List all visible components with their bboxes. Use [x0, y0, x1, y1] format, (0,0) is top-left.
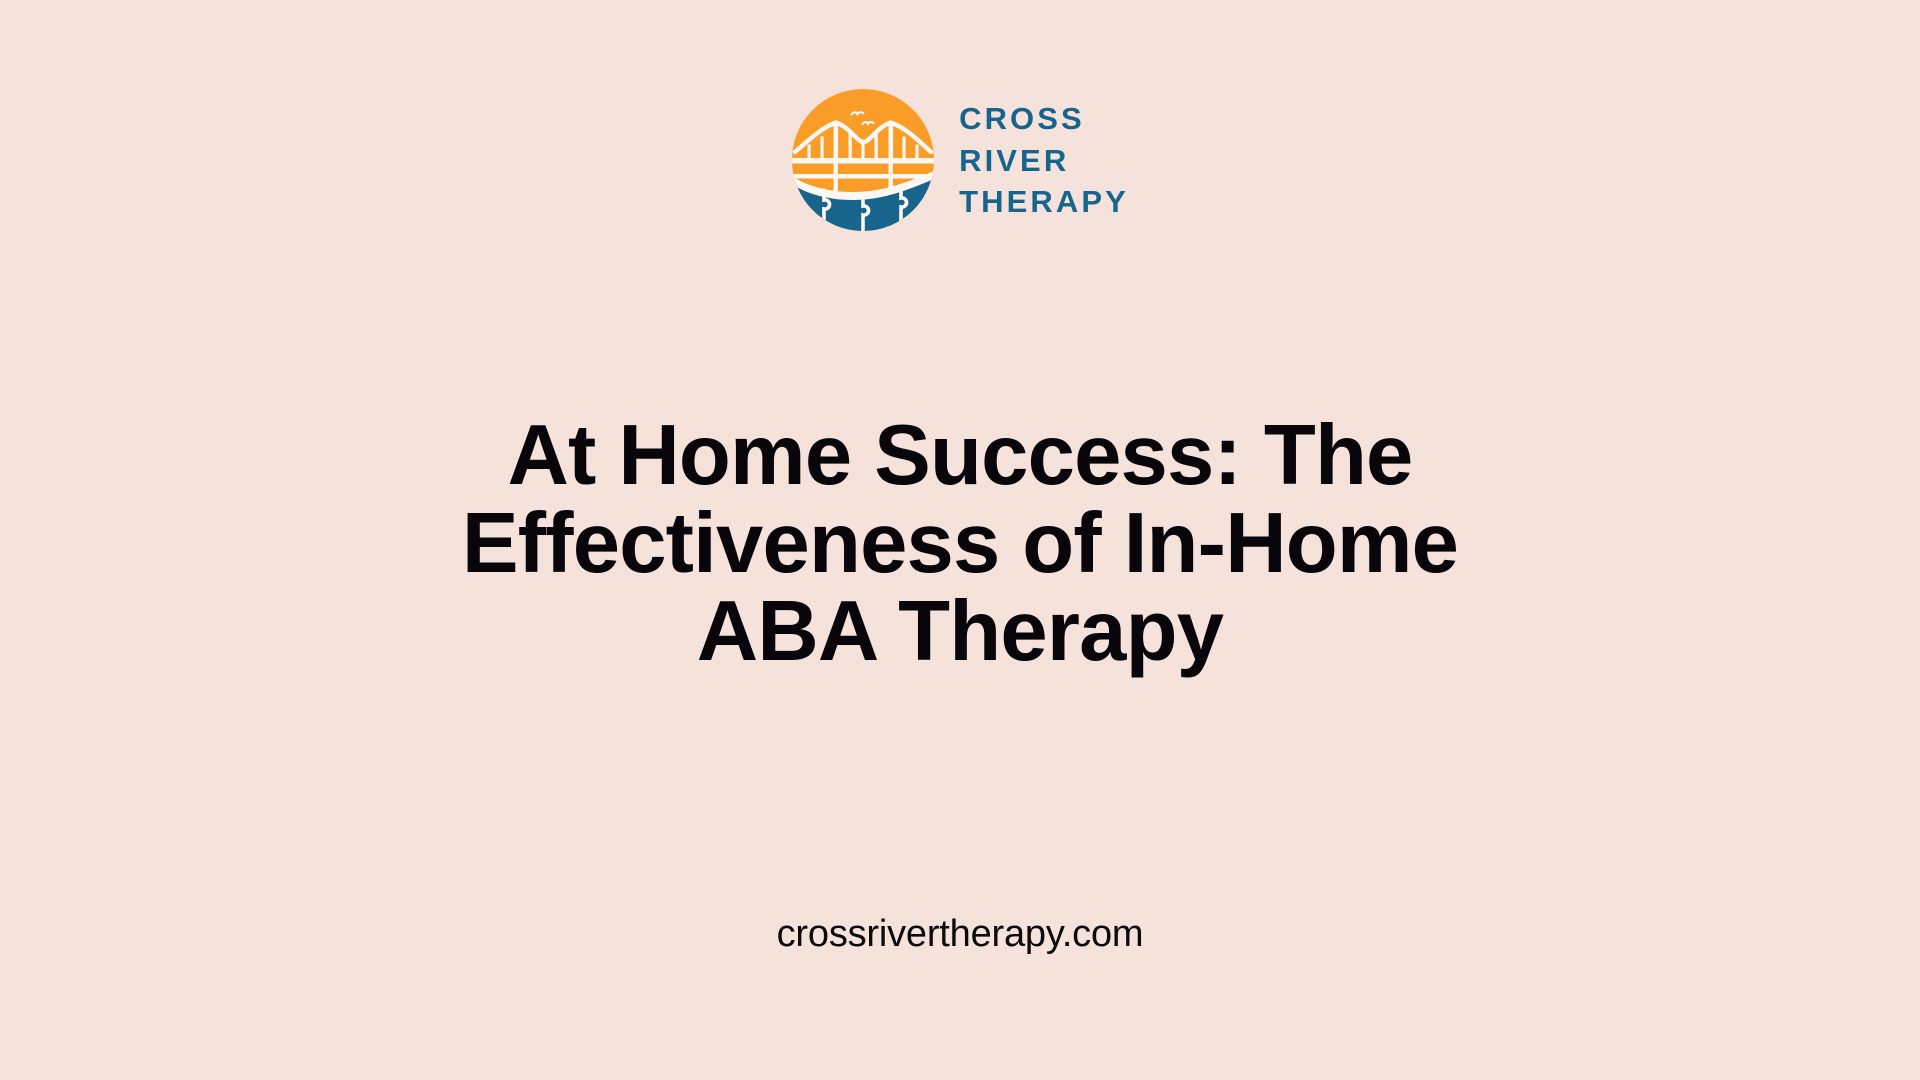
title-slide: CROSS RIVER THERAPY At Home Success: The… [0, 0, 1920, 1080]
brand-wordmark-line-3: THERAPY [959, 182, 1129, 223]
brand-wordmark-line-2: RIVER [959, 141, 1129, 182]
page-title-line-3: ABA Therapy [360, 588, 1560, 676]
brand-wordmark-line-1: CROSS [959, 99, 1129, 140]
brand-wordmark: CROSS RIVER THERAPY [959, 97, 1129, 224]
page-title-line-2: Effectiveness of In-Home [360, 500, 1560, 588]
page-title-line-1: At Home Success: The [360, 412, 1560, 500]
brand-lockup[interactable]: CROSS RIVER THERAPY [0, 88, 1920, 232]
page-title: At Home Success: The Effectiveness of In… [360, 412, 1560, 676]
cross-river-therapy-bridge-logo-icon [791, 88, 935, 232]
footer-website-url[interactable]: crossrivertherapy.com [0, 912, 1920, 958]
